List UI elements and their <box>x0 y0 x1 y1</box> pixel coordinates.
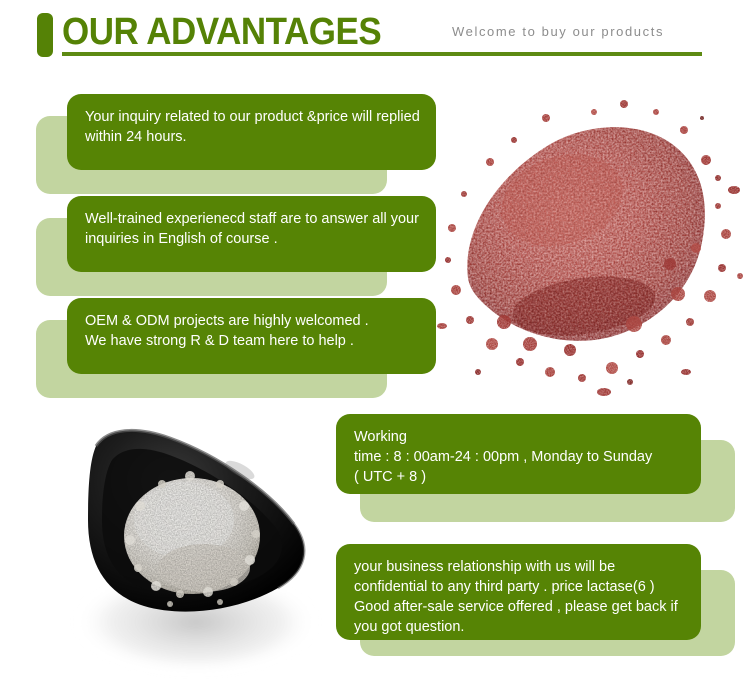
header-tagline: Welcome to buy our products <box>452 24 664 39</box>
advantage-card-trained-staff: Well-trained experienecd staff are to an… <box>36 196 436 296</box>
advantage-text-confidentiality: your business relationship with us will … <box>336 544 701 640</box>
advantage-text-oem-odm: OEM & ODM projects are highly welcomed .… <box>67 298 436 374</box>
advantage-text-inquiry-response: Your inquiry related to our product &pri… <box>67 94 436 170</box>
page-title: OUR ADVANTAGES <box>62 9 381 55</box>
advantage-card-working-time: Working time : 8 : 00am-24 : 00pm , Mond… <box>336 414 736 524</box>
advantage-text-working-time: Working time : 8 : 00am-24 : 00pm , Mond… <box>336 414 701 494</box>
red-powder-photo <box>434 82 746 408</box>
advantage-text-trained-staff: Well-trained experienecd staff are to an… <box>67 196 436 272</box>
title-accent-bar <box>37 13 53 57</box>
advantage-card-inquiry-response: Your inquiry related to our product &pri… <box>36 94 436 194</box>
white-powder-photo <box>44 408 344 680</box>
advantage-card-confidentiality: your business relationship with us will … <box>336 544 736 674</box>
title-divider <box>62 52 702 56</box>
page-header: OUR ADVANTAGES Welcome to buy our produc… <box>0 0 750 78</box>
advantage-card-oem-odm: OEM & ODM projects are highly welcomed .… <box>36 298 436 398</box>
